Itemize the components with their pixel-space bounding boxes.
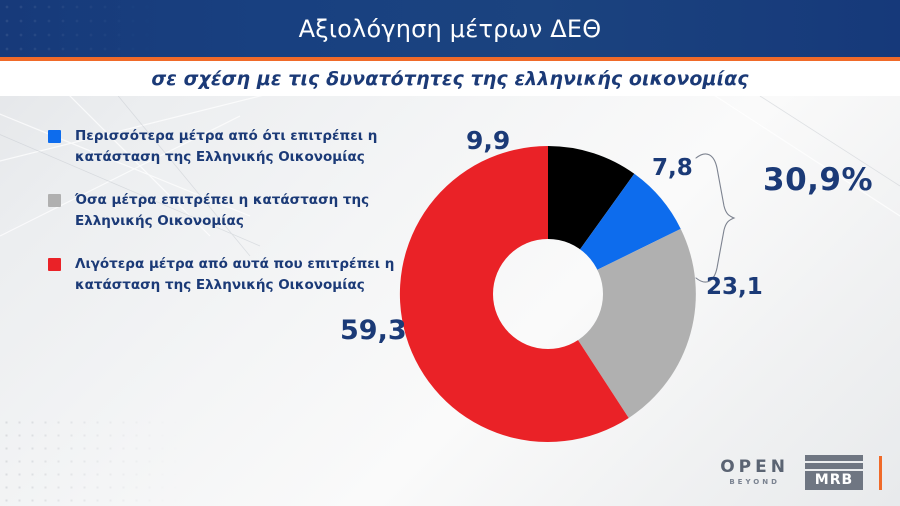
legend-swatch-blue xyxy=(48,130,61,143)
mrb-logo: MRB xyxy=(805,455,863,490)
grouping-brace xyxy=(690,148,752,288)
legend-item-more-measures[interactable]: Περισσότερα μέτρα από ότι επιτρέπει η κα… xyxy=(48,126,398,168)
total-annotation-label: 30,9% xyxy=(763,162,873,198)
beyond-wordmark: BEYOND xyxy=(729,479,780,486)
mrb-bar-mid xyxy=(805,463,863,469)
legend-swatch-gray xyxy=(48,194,61,207)
legend-label: Όσα μέτρα επιτρέπει η κατάσταση της Ελλη… xyxy=(75,190,398,232)
open-beyond-logo: OPEN BEYOND xyxy=(720,459,789,486)
page-subtitle: σε σχέση με τις δυνατότητες της ελληνική… xyxy=(0,61,900,96)
data-label-black: 9,9 xyxy=(466,126,510,155)
mrb-bar-top xyxy=(805,455,863,461)
data-label-blue: 7,8 xyxy=(652,155,693,181)
slide-root: Αξιολόγηση μέτρων ΔΕΘ σε σχέση με τις δυ… xyxy=(0,0,900,506)
donut-chart xyxy=(398,144,698,444)
legend-item-as-many-measures[interactable]: Όσα μέτρα επιτρέπει η κατάσταση της Ελλη… xyxy=(48,190,398,232)
chart-legend: Περισσότερα μέτρα από ότι επιτρέπει η κα… xyxy=(48,126,398,318)
legend-swatch-red xyxy=(48,258,61,271)
legend-label: Λιγότερα μέτρα από αυτά που επιτρέπει η … xyxy=(75,254,398,296)
corner-dot-texture xyxy=(0,416,260,506)
open-wordmark: OPEN xyxy=(720,459,789,476)
legend-item-fewer-measures[interactable]: Λιγότερα μέτρα από αυτά που επιτρέπει η … xyxy=(48,254,398,296)
data-label-red: 59,3 xyxy=(340,315,407,346)
orange-accent-tick xyxy=(879,456,882,490)
brand-logos: OPEN BEYOND MRB xyxy=(720,455,882,490)
legend-label: Περισσότερα μέτρα από ότι επιτρέπει η κα… xyxy=(75,126,398,168)
mrb-wordmark: MRB xyxy=(805,471,863,490)
page-title: Αξιολόγηση μέτρων ΔΕΘ xyxy=(0,0,900,57)
data-label-gray: 23,1 xyxy=(706,274,763,300)
